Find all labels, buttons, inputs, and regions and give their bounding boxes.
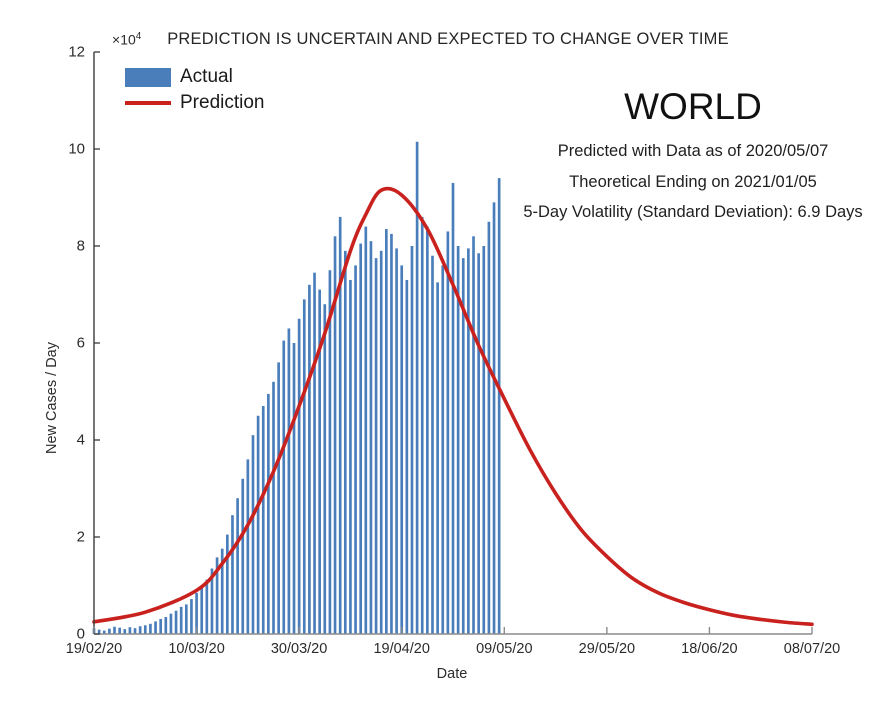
bar [206,580,209,634]
y-axis-exponent-prefix: × [112,32,120,48]
bar [323,304,326,634]
y-axis-exponent-base: 10 [120,32,136,48]
annotation-theoretical-ending: Theoretical Ending on 2021/01/05 [569,173,817,192]
bar [185,604,188,634]
bar [139,626,142,634]
bar [170,614,173,634]
bar [288,328,291,634]
legend-item-prediction: Prediction [125,90,325,116]
bar [267,394,270,634]
bar [154,621,157,634]
bar [175,611,178,634]
bar [447,231,450,634]
chart-title: PREDICTION IS UNCERTAIN AND EXPECTED TO … [167,30,729,49]
bar [313,273,316,634]
bar [159,619,162,634]
y-axis-label: New Cases / Day [44,318,60,478]
bar [477,253,480,634]
x-axis-tick-label: 08/07/20 [784,641,840,657]
bar [472,236,475,634]
y-axis-exponent: ×104 [112,31,141,48]
y-axis-tick-label: 4 [77,432,85,449]
bar [282,341,285,634]
bar [431,256,434,634]
legend-label-actual: Actual [180,66,233,88]
annotation-volatility: 5-Day Volatility (Standard Deviation): 6… [523,203,862,222]
bar [108,629,111,634]
y-axis-tick-label: 6 [77,335,85,352]
bar [349,280,352,634]
bar [457,246,460,634]
y-axis-exponent-power: 4 [136,31,142,42]
bar [426,227,429,634]
bar [436,282,439,634]
bar [493,202,496,634]
bar [180,607,183,634]
x-axis-tick-label: 29/05/20 [579,641,635,657]
bar [298,319,301,634]
y-axis-tick-label: 10 [68,141,85,158]
bar [236,498,239,634]
bar [190,599,193,634]
bar [482,246,485,634]
annotation-data-as-of: Predicted with Data as of 2020/05/07 [558,142,829,161]
bar [118,628,121,634]
bar [390,234,393,634]
x-axis-ticklabels: 19/02/2010/03/2030/03/2019/04/2009/05/20… [0,641,896,663]
bar [354,265,357,634]
bar [344,251,347,634]
y-axis-tick-label: 2 [77,529,85,546]
bar [308,285,311,634]
annotation-region: WORLD [624,86,762,128]
bar [421,217,424,634]
bar [411,246,414,634]
bar [375,258,378,634]
x-axis-tick-label: 18/06/20 [681,641,737,657]
bar [231,515,234,634]
x-axis-label: Date [437,666,468,682]
bar [164,617,167,634]
bar [129,627,132,634]
x-axis-tick-label: 10/03/20 [168,641,224,657]
y-axis-tick-label: 0 [77,626,85,643]
bar [226,535,229,634]
bar [272,382,275,634]
bar [303,299,306,634]
bar [149,624,152,634]
legend-swatch-bar-icon [125,68,171,87]
y-axis-tick-label: 12 [68,44,85,61]
bars-group [93,142,501,634]
bar [247,459,250,634]
bar [252,435,255,634]
bar [134,628,137,634]
bar [200,586,203,634]
chart-figure: PREDICTION IS UNCERTAIN AND EXPECTED TO … [0,0,896,712]
bar [385,229,388,634]
bar [488,222,491,634]
legend-label-prediction: Prediction [180,92,265,114]
bar [359,244,362,634]
x-axis-tick-label: 09/05/20 [476,641,532,657]
bar [395,248,398,634]
bar [400,265,403,634]
bar [452,183,455,634]
bar [262,406,265,634]
bar [113,627,116,634]
bar [277,362,280,634]
x-axis-tick-label: 19/04/20 [373,641,429,657]
bar [370,241,373,634]
bar [241,479,244,634]
bar [257,416,260,634]
x-axis-tick-label: 19/02/20 [66,641,122,657]
bar [441,265,444,634]
chart-legend: Actual Prediction [125,64,325,116]
bar [364,227,367,634]
legend-item-actual: Actual [125,64,325,90]
bar [498,178,501,634]
bar [380,251,383,634]
bar [467,248,470,634]
legend-swatch-line-icon [125,94,171,113]
bar [406,280,409,634]
bar [293,343,296,634]
y-axis-tick-label: 8 [77,238,85,255]
bar [144,625,147,634]
x-axis-tick-label: 30/03/20 [271,641,327,657]
